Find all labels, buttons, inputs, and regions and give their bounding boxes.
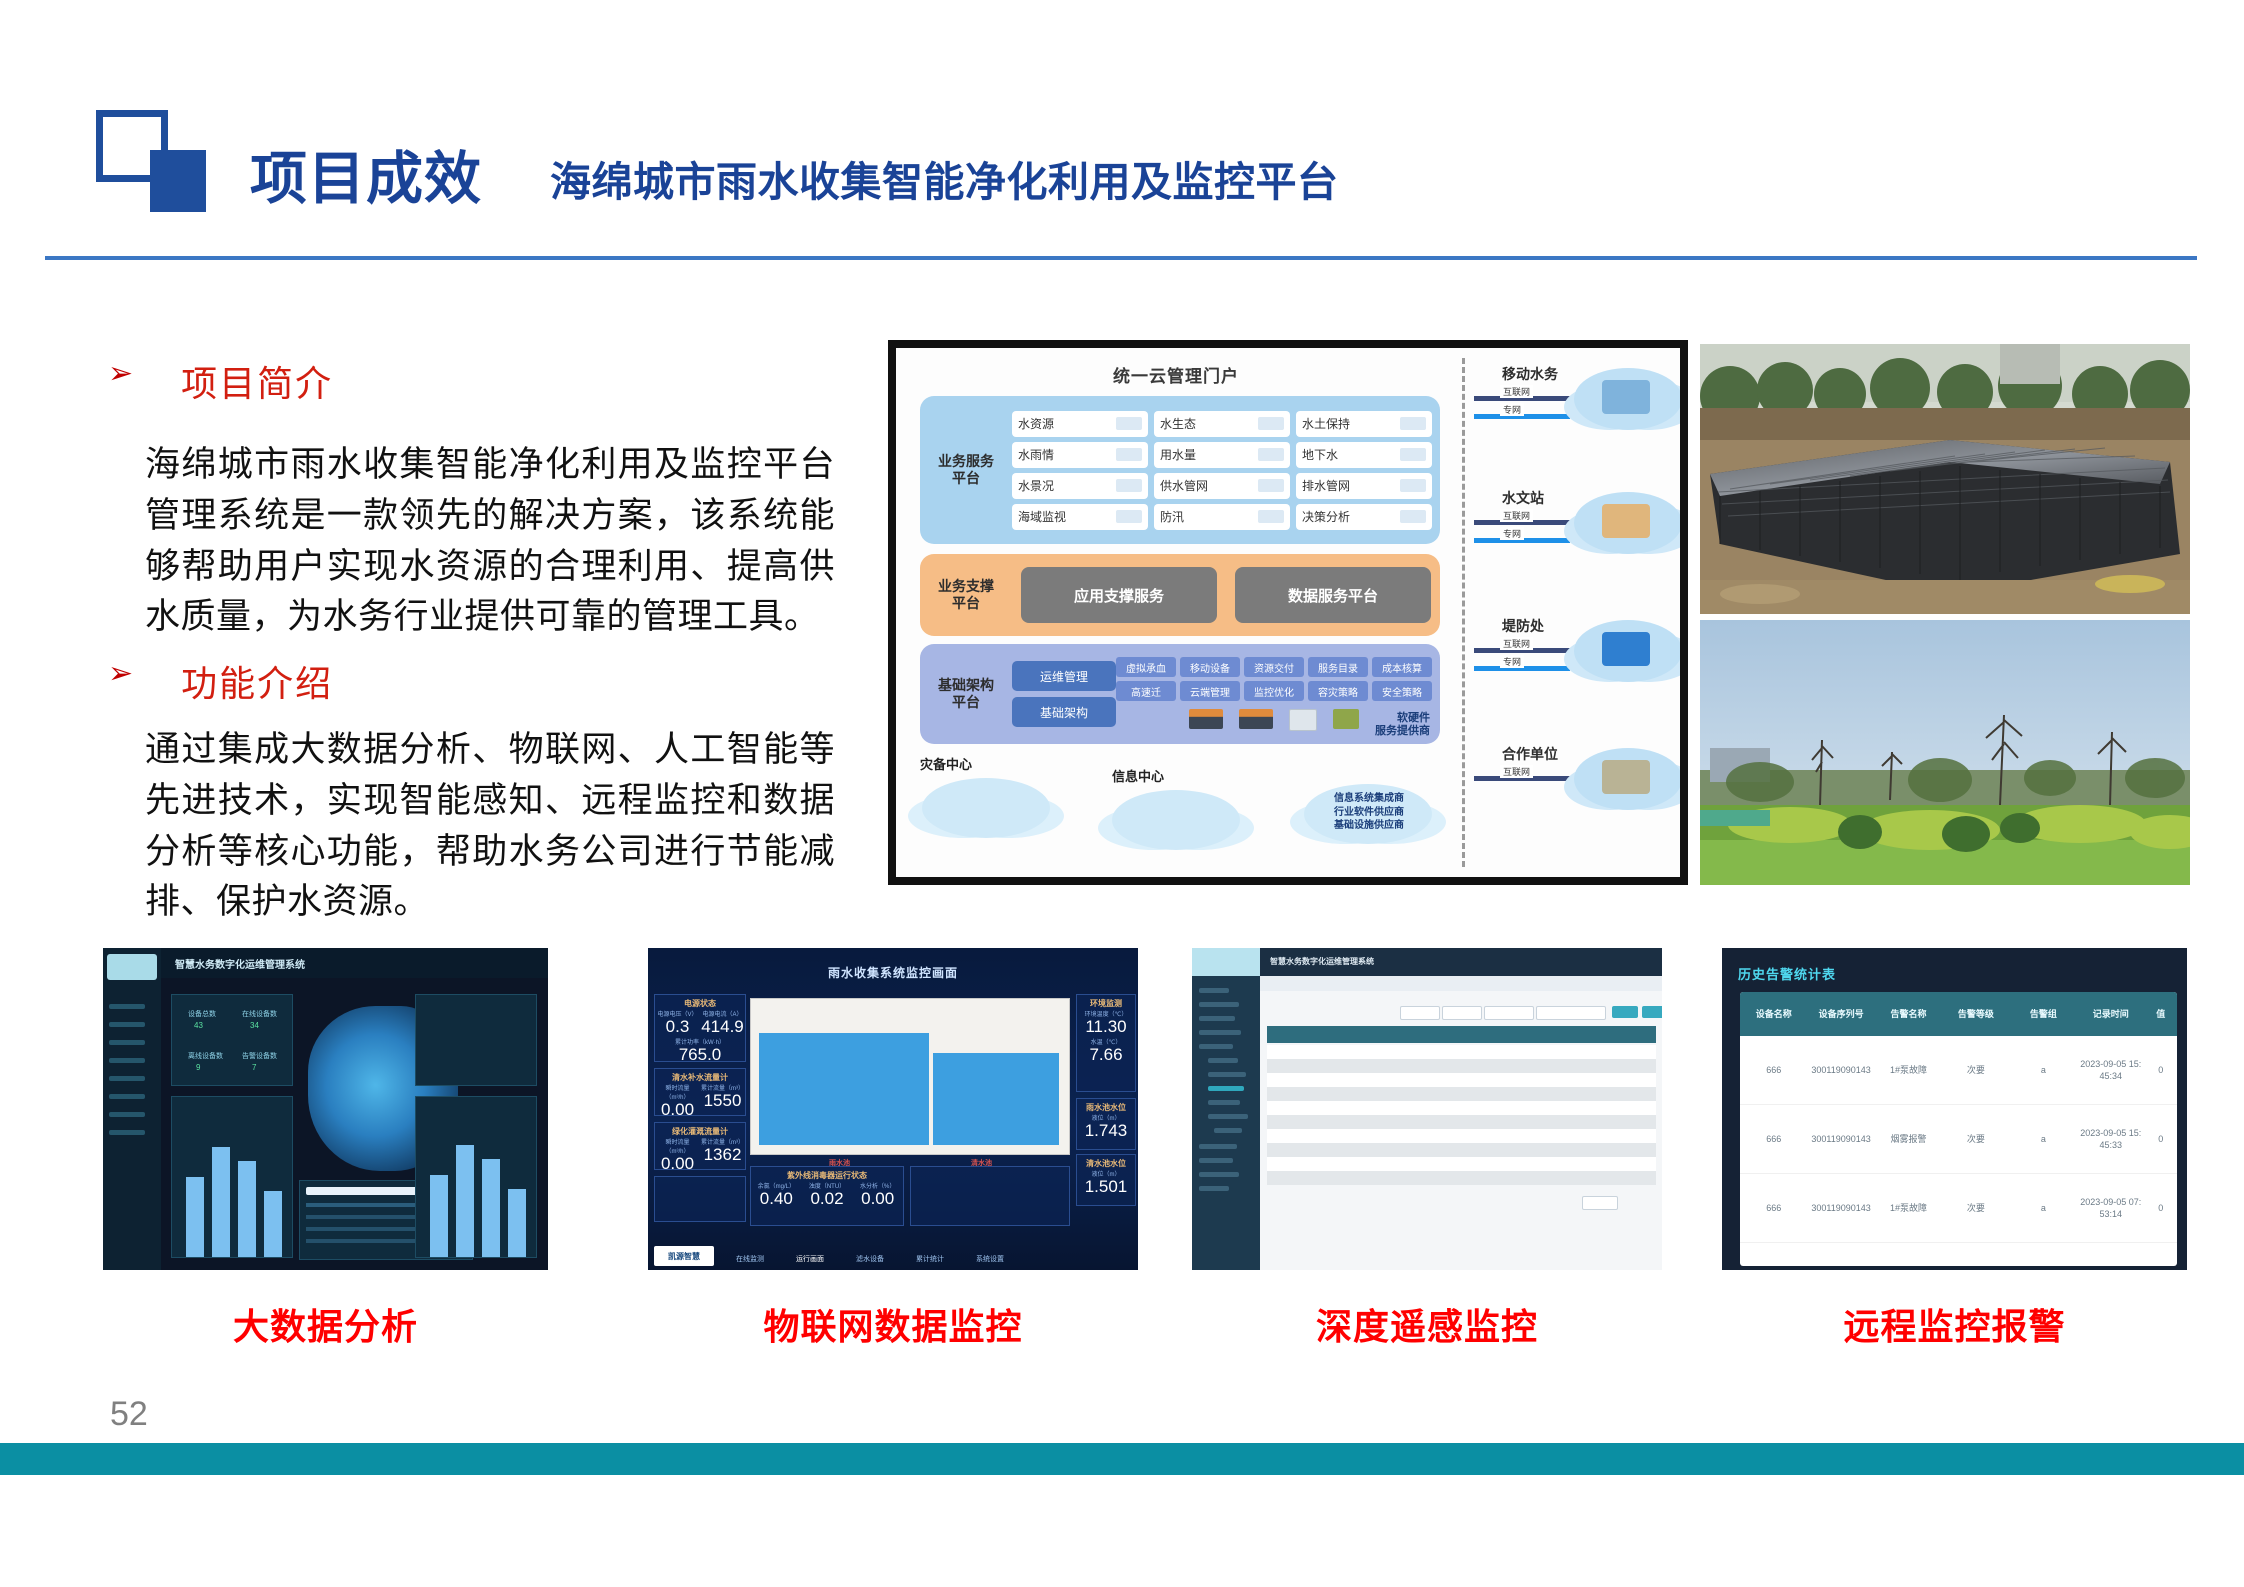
t2-panel-pump-status (654, 1176, 746, 1222)
t2-panel-clean-tank-level: 清水池水位 液位（m） 1.501 (1076, 1154, 1136, 1206)
cell-item: 水雨情 (1012, 442, 1148, 468)
cell-item: 海域监视 (1012, 504, 1148, 530)
underground-rainwater-tank-photo (1700, 344, 2190, 614)
bottom-cloud-group: 灾备中心 信息中心 信息系统集成商行业软件供应商基础设施供应商 (916, 748, 1456, 878)
cell-item: 地下水 (1296, 442, 1432, 468)
page-subtitle: 海绵城市雨水收集智能净化利用及监控平台 (550, 148, 1339, 208)
office-building-cloud-icon (1574, 620, 1682, 682)
t2-panel-clean-water: 清水补水流量计 瞬时流量（m³/h）0.00 累计流量（m³）1550 (654, 1068, 746, 1116)
chip-icon (1258, 448, 1284, 461)
t2-tab[interactable]: 滤水设备 (856, 1254, 884, 1264)
caption-big-data: 大数据分析 (103, 1298, 548, 1350)
thumbnail-big-data-dashboard[interactable]: 智慧水务数字化运维管理系统 设备总数 43 在线设备数 34 离线设备数 9 告… (103, 948, 548, 1270)
infra-tag: 监控优化 (1244, 681, 1304, 701)
cell-item: 用水量 (1154, 442, 1290, 468)
cell-item: 水资源 (1012, 411, 1148, 437)
infra-tag: 资源交付 (1244, 657, 1304, 677)
layer-infrastructure: 基础架构平台 运维管理 基础架构 虚拟承血 移动设备 资源交付 服务目录 成本核… (920, 644, 1440, 744)
cell-item: 供水管网 (1154, 473, 1290, 499)
infra-tag: 服务目录 (1308, 657, 1368, 677)
storage-icon (1289, 709, 1317, 731)
caption-iot-monitor: 物联网数据监控 (648, 1298, 1138, 1350)
t1-sidebar[interactable] (103, 948, 161, 1270)
station-house-cloud-icon (1574, 492, 1682, 554)
caption-remote-sensing: 深度遥感监控 (1192, 1298, 1662, 1350)
mobile-device-cloud-icon (1574, 368, 1682, 430)
external-partner-unit: 合作单位 互联网 (1474, 744, 1686, 786)
cloud-label-info-center: 信息中心 (1112, 766, 1164, 785)
alarm-history-table: 设备名称 设备序列号 告警名称 告警等级 告警组 记录时间 值 666 3001… (1740, 992, 2177, 1266)
table-row: 666 300119090143 烟雾报警 次要 a 2023-09-05 15… (1740, 1105, 2177, 1174)
header-divider (45, 256, 2197, 260)
th-device-name: 设备名称 (1740, 1009, 1807, 1020)
t2-tab[interactable]: 累计统计 (916, 1254, 944, 1264)
function-heading-label: 功能介绍 (181, 655, 333, 707)
t3-logo (1192, 948, 1260, 976)
t2-tank-diagram: 雨水池 清水池 (750, 998, 1070, 1155)
infra-tag: 移动设备 (1180, 657, 1240, 677)
arrow-bullet-icon: ➢ (108, 359, 133, 389)
t2-panel-valve-status (910, 1166, 1070, 1226)
t3-screen-title: 智慧水务数字化运维管理系统 (1270, 956, 1374, 967)
infra-tag: 容灾策略 (1308, 681, 1368, 701)
page-number: 52 (110, 1395, 148, 1434)
th-value: 值 (2144, 1009, 2177, 1020)
infra-button-arch: 基础架构 (1012, 697, 1116, 727)
chip-icon (1400, 417, 1426, 430)
infra-button-group: 运维管理 基础架构 (1012, 661, 1116, 727)
cell-item: 水土保持 (1296, 411, 1432, 437)
server-stack-icon (1239, 709, 1273, 729)
cell-item: 水生态 (1154, 411, 1290, 437)
layer-business-label: 业务服务平台 (920, 453, 1012, 488)
t1-kpi-card: 设备总数 43 在线设备数 34 离线设备数 9 告警设备数 7 (171, 994, 293, 1086)
caption-alarm: 远程监控报警 (1722, 1298, 2187, 1350)
tank-photo-svg (1700, 344, 2190, 614)
table-row: 666 300119090143 1#泵故障 次要 a 2023-09-05 0… (1740, 1174, 2177, 1243)
brand-logo (96, 110, 206, 210)
t4-screen-title: 历史告警统计表 (1738, 964, 1836, 983)
t3-tab-strip[interactable] (1260, 976, 1662, 991)
t2-panel-environment: 环境监测 环境温度（℃）11.30 水温（℃）7.66 (1076, 994, 1136, 1092)
infra-tag: 云端管理 (1180, 681, 1240, 701)
thumbnail-alarm-table[interactable]: 历史告警统计表 设备名称 设备序列号 告警名称 告警等级 告警组 记录时间 值 … (1722, 948, 2187, 1270)
cloud-label-dr-center: 灾备中心 (920, 754, 972, 773)
th-alarm-group: 告警组 (2010, 1009, 2077, 1020)
external-hydrology-station: 水文站 互联网 专网 (1474, 488, 1686, 548)
cell-item: 水景况 (1012, 473, 1148, 499)
layer-support-label: 业务支撑平台 (920, 578, 1012, 613)
info-center-cloud-icon (1112, 790, 1240, 850)
chip-icon (1116, 448, 1142, 461)
t2-panel-uv-disinfect: 紫外线消毒器运行状态 余氯（mg/L）0.40 浊度（NTU）0.02 水分析（… (750, 1166, 904, 1226)
th-alarm-level: 告警等级 (1942, 1009, 2009, 1020)
section-heading-intro: ➢ 项目简介 (108, 355, 333, 407)
t2-tab[interactable]: 运行画面 (796, 1254, 824, 1264)
t3-sidebar[interactable] (1192, 948, 1260, 1270)
t3-table-header (1267, 1026, 1656, 1043)
university-cloud-icon (1574, 748, 1682, 810)
t3-topbar: 智慧水务数字化运维管理系统 (1260, 948, 1662, 976)
layer-business-support: 业务支撑平台 应用支撑服务 数据服务平台 (920, 554, 1440, 636)
thumbnail-remote-sensing[interactable]: 智慧水务数字化运维管理系统 (1192, 948, 1662, 1270)
intro-paragraph: 海绵城市雨水收集智能净化利用及监控平台管理系统是一款领先的解决方案，该系统能够帮… (145, 440, 835, 643)
layer-business-service: 业务服务平台 水资源 水雨情 水景况 海域监视 水生态 用水量 供水管网 防汛 … (920, 396, 1440, 544)
diagram-dashed-divider (1462, 358, 1465, 867)
t2-screen-title: 雨水收集系统监控画面 (648, 964, 1138, 981)
t2-tab[interactable]: 在线监测 (736, 1254, 764, 1264)
t1-screen-title: 智慧水务数字化运维管理系统 (175, 956, 305, 971)
logo-solid-square (150, 150, 206, 212)
chip-icon (1258, 479, 1284, 492)
chip-icon (1258, 510, 1284, 523)
table-header-row: 设备名称 设备序列号 告警名称 告警等级 告警组 记录时间 值 (1740, 992, 2177, 1036)
support-box-app: 应用支撑服务 (1021, 567, 1217, 623)
cell-item: 防汛 (1154, 504, 1290, 530)
t1-logo (107, 954, 157, 980)
dr-center-cloud-icon (922, 778, 1050, 838)
section-heading-function: ➢ 功能介绍 (108, 655, 333, 707)
park-landscape-photo (1700, 620, 2190, 885)
support-box-data: 数据服务平台 (1235, 567, 1431, 623)
external-mobile-water: 移动水务 互联网 专网 (1474, 364, 1686, 424)
cell-item: 决策分析 (1296, 504, 1432, 530)
function-paragraph: 通过集成大数据分析、物联网、人工智能等先进技术，实现智能感知、远程监控和数据分析… (145, 725, 835, 928)
footer-bar (0, 1443, 2244, 1475)
infra-button-ops: 运维管理 (1012, 661, 1116, 691)
t1-bar-chart-right (415, 1096, 537, 1258)
layer-infra-label: 基础架构平台 (920, 677, 1012, 712)
business-cell-grid: 水资源 水雨情 水景况 海域监视 水生态 用水量 供水管网 防汛 水土保持 地下… (1012, 404, 1440, 537)
thumbnail-iot-monitor[interactable]: 雨水收集系统监控画面 电源状态 电源电压（V）0.3 电源电流（A）414.9 … (648, 948, 1138, 1270)
t2-brand-logo: 凯源智慧 (654, 1246, 714, 1266)
t2-panel-power: 电源状态 电源电压（V）0.3 电源电流（A）414.9 累计功率（kW·h）7… (654, 994, 746, 1062)
chip-icon (1400, 510, 1426, 523)
architecture-diagram: 统一云管理门户 业务服务平台 水资源 水雨情 水景况 海域监视 水生态 用水量 … (888, 340, 1688, 885)
chip-icon (1400, 448, 1426, 461)
portal-title: 统一云管理门户 (896, 362, 1456, 387)
t2-tab[interactable]: 系统设置 (976, 1254, 1004, 1264)
t1-bar-chart-left (171, 1096, 293, 1258)
external-dike-office: 堤防处 互联网 专网 (1474, 616, 1686, 676)
server-stack-icon (1189, 709, 1223, 729)
infra-tag: 成本核算 (1372, 657, 1432, 677)
chip-icon (1400, 479, 1426, 492)
chip-icon (1116, 417, 1142, 430)
network-switch-icon (1333, 709, 1359, 729)
th-alarm-name: 告警名称 (1875, 1009, 1942, 1020)
cell-item: 排水管网 (1296, 473, 1432, 499)
arrow-bullet-icon: ➢ (108, 659, 133, 689)
th-record-time: 记录时间 (2077, 1009, 2144, 1020)
intro-heading-label: 项目简介 (181, 355, 333, 407)
table-row: 666 300119090143 1#泵故障 次要 a 2023-09-05 1… (1740, 1036, 2177, 1105)
infra-note-label: 软硬件服务提供商 (1375, 712, 1430, 738)
park-photo-svg (1700, 620, 2190, 885)
infra-tag: 高速迁 (1116, 681, 1176, 701)
t1-kpi-card-right (415, 994, 537, 1086)
page-title: 项目成效 (250, 133, 482, 215)
t2-panel-rain-tank-level: 雨水池水位 液位（m） 1.743 (1076, 1098, 1136, 1150)
chip-icon (1258, 417, 1284, 430)
vendor-cloud-text: 信息系统集成商行业软件供应商基础设施供应商 (1294, 792, 1444, 833)
infra-tag: 虚拟承血 (1116, 657, 1176, 677)
chip-icon (1116, 479, 1142, 492)
infra-tag: 安全策略 (1372, 681, 1432, 701)
t2-panel-irrigation: 绿化灌溉流量计 瞬时流量（m³/h）0.00 累计流量（m³）1362 (654, 1122, 746, 1170)
chip-icon (1116, 510, 1142, 523)
th-serial: 设备序列号 (1807, 1009, 1874, 1020)
